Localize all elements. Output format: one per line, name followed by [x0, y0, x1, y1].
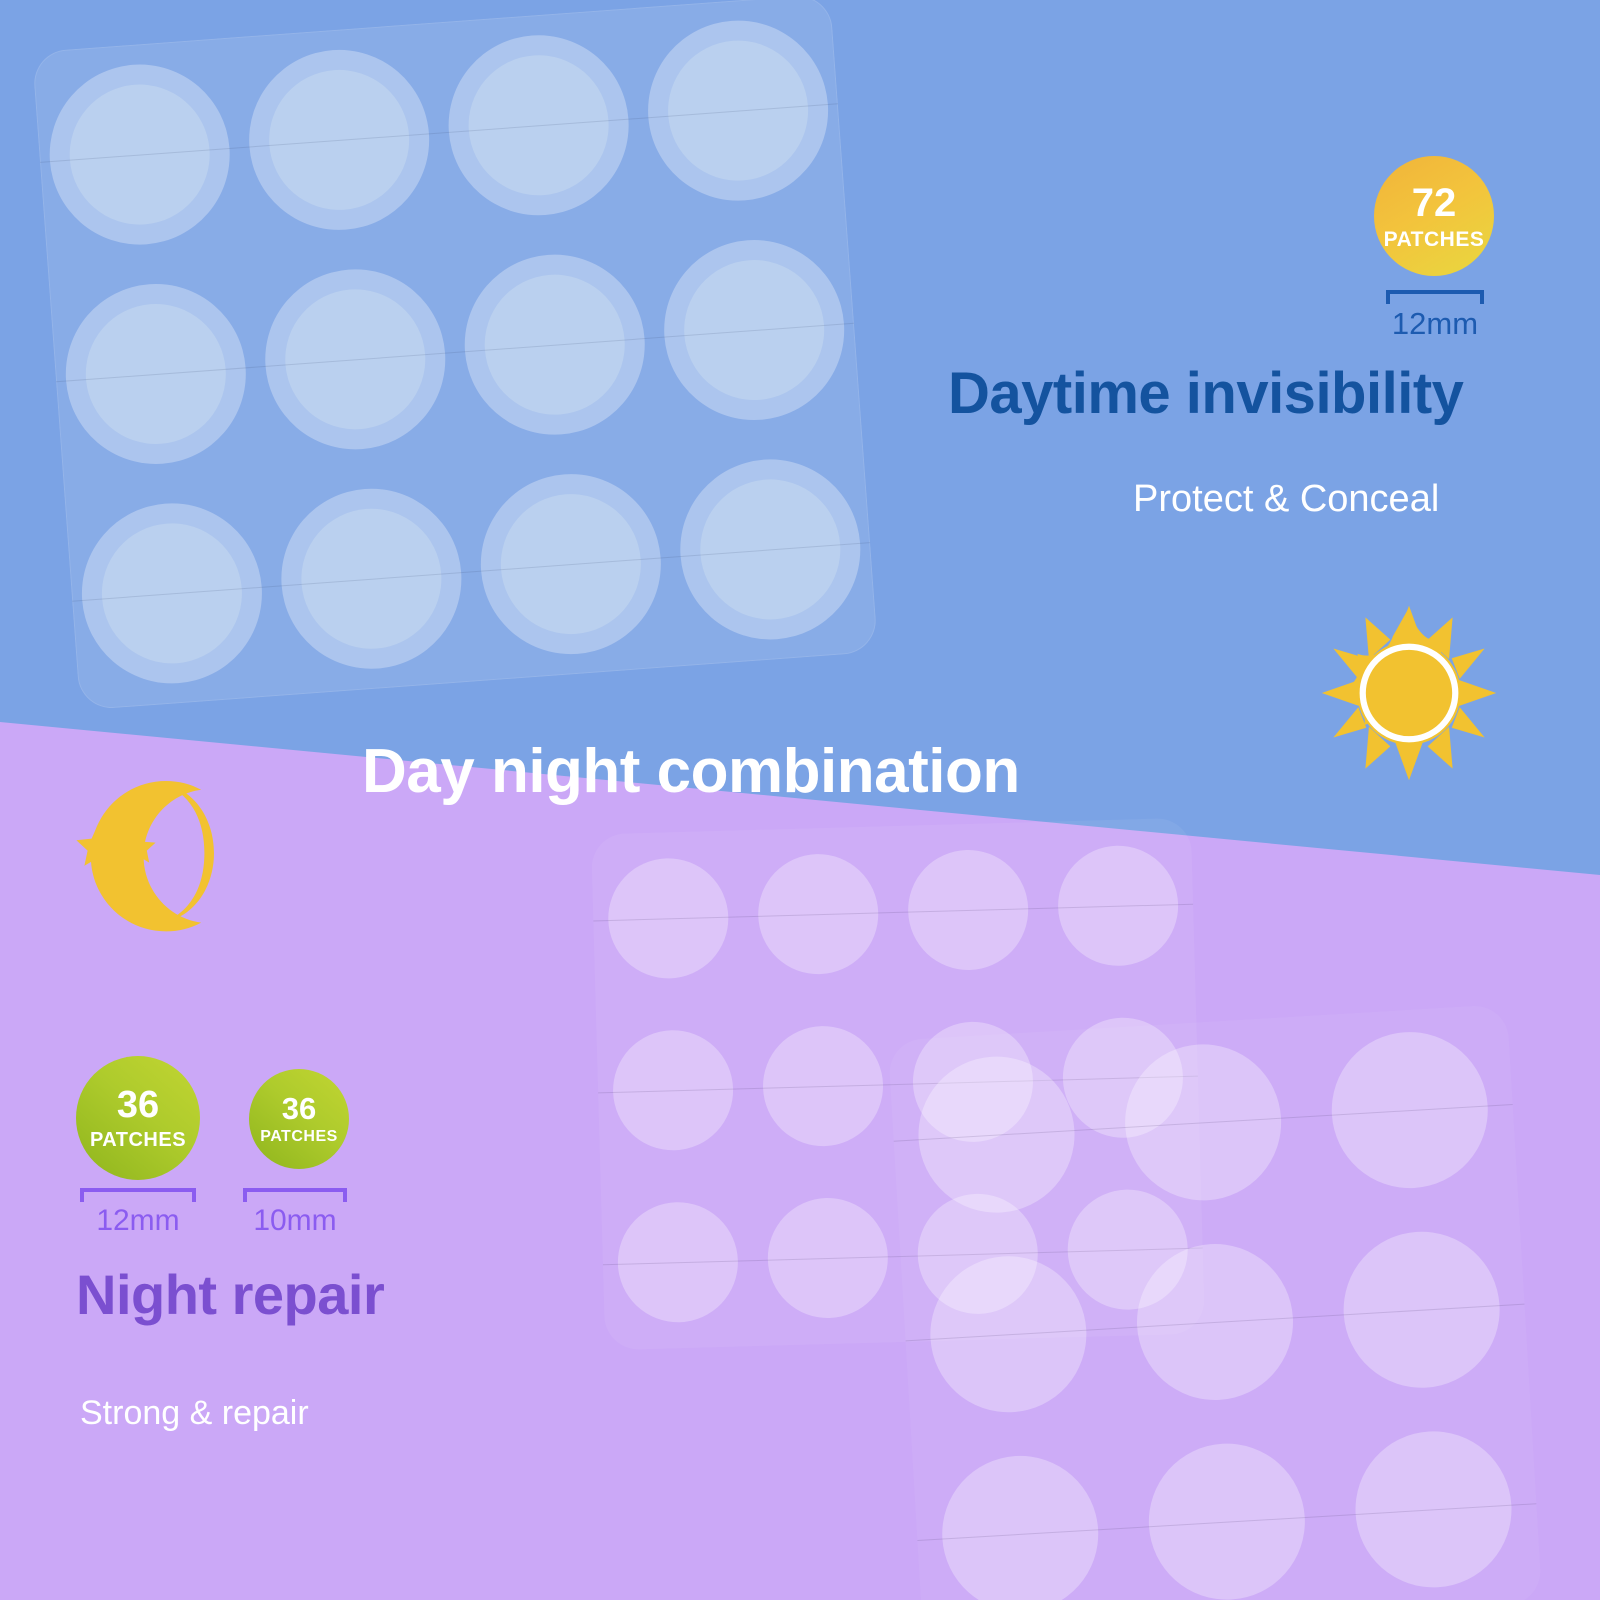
measure-cap-right — [192, 1188, 196, 1202]
measure-label: 12mm — [80, 1204, 196, 1238]
measure-label: 10mm — [243, 1204, 347, 1238]
measure-cap-left — [80, 1188, 84, 1202]
badge-count: 36 — [117, 1086, 159, 1124]
measure-label: 12mm — [1386, 306, 1484, 342]
product-marketing-banner: 72 PATCHES 12mm Daytime invisibility Pro… — [0, 0, 1600, 1600]
measure-cap-right — [343, 1188, 347, 1202]
badge-count: 36 — [282, 1093, 316, 1124]
measure-cap-left — [1386, 290, 1390, 304]
badge-unit: PATCHES — [260, 1129, 338, 1145]
center-banner-heading: Day night combination — [362, 736, 1020, 807]
daytime-subheading: Protect & Conceal — [1133, 478, 1439, 521]
moon-stars-icon — [62, 772, 222, 934]
patch-circle — [1144, 1439, 1309, 1600]
patch-circle — [938, 1451, 1103, 1600]
badge-unit: PATCHES — [90, 1130, 186, 1150]
badge-36-patches-10mm: 36 PATCHES — [249, 1069, 349, 1169]
daytime-patch-sheet — [32, 0, 878, 710]
measure-bar — [1386, 290, 1484, 294]
measure-bar — [243, 1188, 347, 1192]
badge-36-patches-12mm: 36 PATCHES — [76, 1056, 200, 1180]
badge-count: 72 — [1412, 183, 1457, 223]
night-subheading: Strong & repair — [80, 1394, 309, 1433]
daytime-heading: Daytime invisibility — [948, 360, 1463, 427]
sun-icon — [1320, 604, 1498, 782]
measure-bar — [80, 1188, 196, 1192]
badge-72-patches: 72 PATCHES — [1374, 156, 1494, 276]
night-patch-sheet-small — [888, 1004, 1542, 1600]
night-heading: Night repair — [76, 1262, 384, 1327]
measure-cap-left — [243, 1188, 247, 1202]
measure-cap-right — [1480, 290, 1484, 304]
badge-unit: PATCHES — [1384, 229, 1485, 250]
